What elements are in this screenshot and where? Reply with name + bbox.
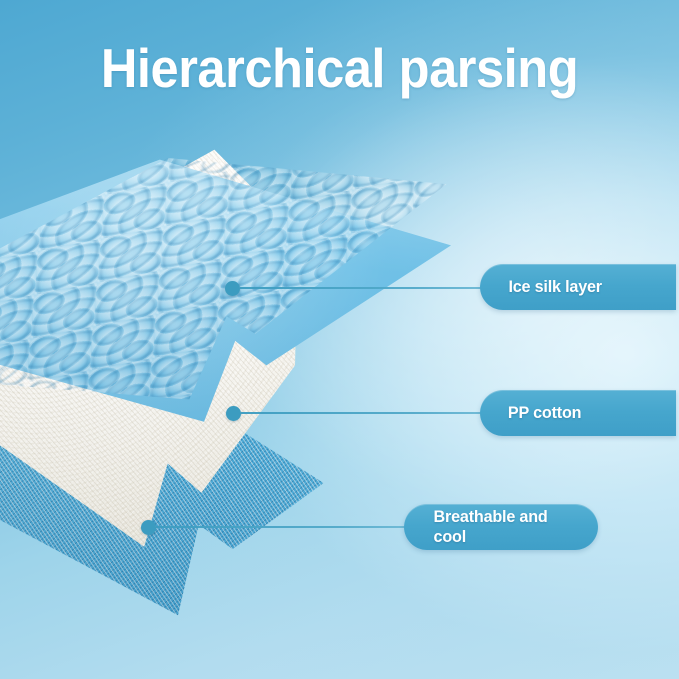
callout-dot-breathable xyxy=(141,520,156,535)
callout-line-pp-cotton xyxy=(241,412,487,414)
callout-label-pp-cotton: PP cotton xyxy=(508,403,581,423)
layer-stack-illustration xyxy=(0,140,490,630)
callout-dot-pp-cotton xyxy=(226,406,241,421)
page-title: Hierarchical parsing xyxy=(27,38,652,99)
callout-pill-pp-cotton[interactable]: PP cotton xyxy=(480,390,676,436)
product-layer-diagram: Hierarchical parsing Ice silk layer PP c… xyxy=(0,0,679,679)
callout-dot-ice-silk xyxy=(225,281,240,296)
ice-silk-layer xyxy=(0,140,490,630)
callout-label-ice-silk: Ice silk layer xyxy=(508,277,601,297)
callout-line-ice-silk xyxy=(240,287,487,289)
callout-pill-ice-silk[interactable]: Ice silk layer xyxy=(480,264,676,310)
callout-label-breathable: Breathable and cool xyxy=(434,507,569,547)
callout-pill-breathable[interactable]: Breathable and cool xyxy=(404,504,598,550)
ice-silk-edge-shadow xyxy=(0,140,490,630)
callout-line-breathable xyxy=(156,526,412,528)
